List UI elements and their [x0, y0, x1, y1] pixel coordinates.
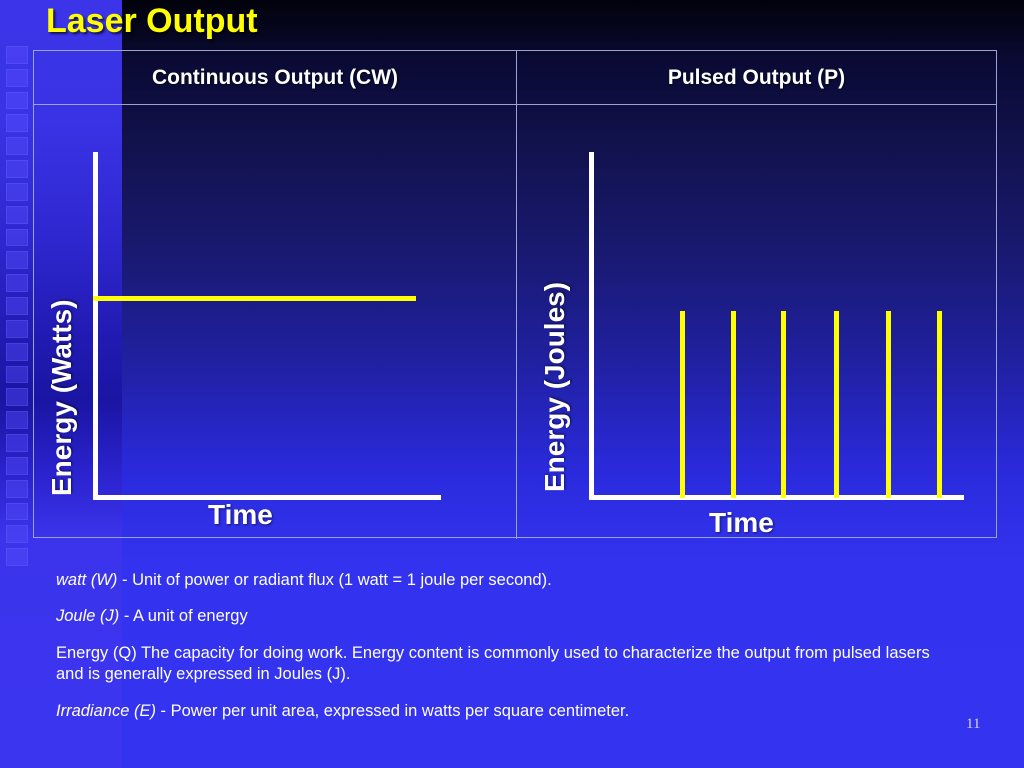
- definition-watt: watt (W) - Unit of power or radiant flux…: [56, 570, 956, 591]
- definition-body-energy: Energy (Q) The capacity for doing work. …: [56, 644, 930, 683]
- pulse-bar: [781, 311, 786, 498]
- decorative-square: [6, 343, 28, 361]
- definition-sep-watt: -: [117, 571, 132, 589]
- definition-term-irradiance: Irradiance (E): [56, 702, 156, 720]
- decorative-square: [6, 320, 28, 338]
- decorative-square: [6, 274, 28, 292]
- decorative-square: [6, 503, 28, 521]
- decorative-square: [6, 388, 28, 406]
- definition-joule: Joule (J) - A unit of energy: [56, 606, 956, 627]
- comparison-table: Continuous Output (CW) Pulsed Output (P)…: [33, 50, 997, 538]
- column-header-pulsed: Pulsed Output (P): [517, 51, 996, 104]
- slide-canvas: Laser Output Continuous Output (CW) Puls…: [0, 0, 1024, 768]
- decorative-square: [6, 229, 28, 247]
- pulsed-y-axis: [589, 152, 594, 500]
- pulse-bar: [886, 311, 891, 498]
- definition-term-joule: Joule (J): [56, 607, 119, 625]
- definitions-block: watt (W) - Unit of power or radiant flux…: [56, 570, 956, 737]
- cw-x-axis-label: Time: [208, 499, 273, 531]
- decorative-square: [6, 480, 28, 498]
- definition-energy: Energy (Q) The capacity for doing work. …: [56, 643, 956, 686]
- decorative-square: [6, 92, 28, 110]
- chart-pulsed: Energy (Joules) Time: [517, 104, 996, 538]
- decorative-square: [6, 434, 28, 452]
- pulse-bar: [937, 311, 942, 498]
- decorative-square: [6, 525, 28, 543]
- page-number: 11: [966, 716, 980, 733]
- definition-sep-joule: -: [119, 607, 133, 625]
- definition-body-irradiance: Power per unit area, expressed in watts …: [171, 702, 630, 720]
- decorative-square-column: [6, 46, 28, 566]
- cw-y-axis-label: Energy (Watts): [46, 299, 78, 496]
- pulse-bar: [680, 311, 685, 498]
- decorative-square: [6, 206, 28, 224]
- cw-output-line: [93, 296, 416, 301]
- slide-title: Laser Output: [46, 2, 258, 41]
- pulsed-y-axis-label: Energy (Joules): [539, 282, 571, 492]
- definition-body-joule: A unit of energy: [133, 607, 248, 625]
- decorative-square: [6, 548, 28, 566]
- pulsed-x-axis-label: Time: [709, 507, 774, 539]
- decorative-square: [6, 160, 28, 178]
- decorative-square: [6, 297, 28, 315]
- pulse-bar: [834, 311, 839, 498]
- definition-term-watt: watt (W): [56, 571, 117, 589]
- decorative-square: [6, 69, 28, 87]
- cw-y-axis: [93, 152, 98, 500]
- decorative-square: [6, 114, 28, 132]
- decorative-square: [6, 251, 28, 269]
- decorative-square: [6, 137, 28, 155]
- decorative-square: [6, 457, 28, 475]
- definition-irradiance: Irradiance (E) - Power per unit area, ex…: [56, 701, 956, 722]
- decorative-square: [6, 183, 28, 201]
- pulse-bar: [731, 311, 736, 498]
- pulsed-x-axis: [589, 495, 964, 500]
- decorative-square: [6, 46, 28, 64]
- chart-cw: Energy (Watts) Time: [34, 104, 516, 538]
- decorative-square: [6, 366, 28, 384]
- column-header-cw: Continuous Output (CW): [34, 51, 516, 104]
- decorative-square: [6, 411, 28, 429]
- definition-sep-irradiance: -: [156, 702, 171, 720]
- definition-body-watt: Unit of power or radiant flux (1 watt = …: [132, 571, 552, 589]
